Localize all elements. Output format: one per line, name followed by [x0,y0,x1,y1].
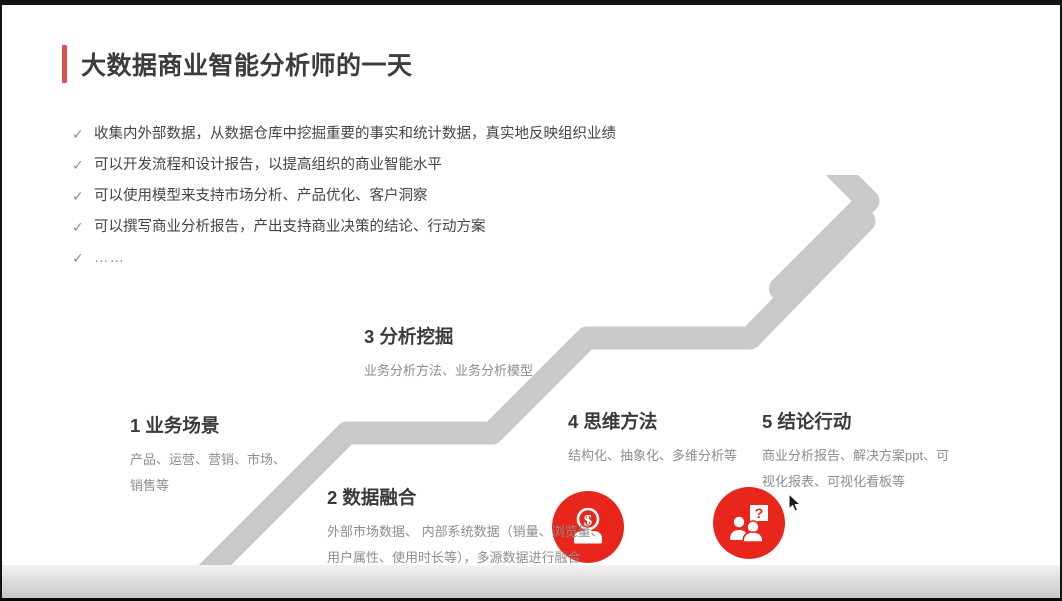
step-1-title: 1 业务场景 [130,412,219,438]
step-5-desc-line2: 视化报表、可视化看板等 [762,469,972,495]
step-5-desc-line1: 商业分析报告、解决方案ppt、可 [762,443,972,469]
step-3-desc-line1: 业务分析方法、业务分析模型 [364,358,594,384]
title-accent-bar [62,45,67,83]
list-item: ✓ 可以开发流程和设计报告，以提高组织的商业智能水平 [72,154,852,177]
staircase-diagram: S ? [2,175,1060,565]
list-item: ✓ 收集内外部数据，从数据仓库中挖掘重要的事实和统计数据，真实地反映组织业绩 [72,123,852,146]
title-label: 大数据商业智能分析师的一天 [81,46,413,82]
page-title: 大数据商业智能分析师的一天 [62,45,413,83]
list-item-label: 可以开发流程和设计报告，以提高组织的商业智能水平 [94,154,442,177]
step-5-title: 5 结论行动 [762,408,851,434]
step-3-desc: 业务分析方法、业务分析模型 [364,358,594,384]
step-1-desc-line2: 销售等 [130,473,315,499]
step-2-desc: 外部市场数据、 内部系统数据（销量、浏览量、 用户属性、使用时长等），多源数据进… [327,519,657,565]
step-1-desc: 产品、运营、营销、市场、 销售等 [130,447,315,499]
video-frame: 大数据商业智能分析师的一天 ✓ 收集内外部数据，从数据仓库中挖掘重要的事实和统计… [0,0,1062,601]
mouse-cursor [788,493,802,513]
step-5-node[interactable]: ? [713,487,785,559]
step-3-title: 3 分析挖掘 [364,323,453,349]
step-4-title: 4 思维方法 [568,408,657,434]
svg-text:?: ? [755,505,764,521]
step-2-title: 2 数据融合 [327,484,416,510]
step-1-desc-line1: 产品、运营、营销、市场、 [130,447,315,473]
check-icon: ✓ [72,154,94,177]
people-question-icon: ? [726,500,772,546]
step-2-desc-line2: 用户属性、使用时长等），多源数据进行融合 [327,545,657,565]
slide-canvas: 大数据商业智能分析师的一天 ✓ 收集内外部数据，从数据仓库中挖掘重要的事实和统计… [2,5,1060,565]
list-item-label: 收集内外部数据，从数据仓库中挖掘重要的事实和统计数据，真实地反映组织业绩 [94,123,616,146]
check-icon: ✓ [72,123,94,146]
player-bottom-bar [2,565,1060,598]
arrow-head-icon [736,175,868,289]
step-2-desc-line1: 外部市场数据、 内部系统数据（销量、浏览量、 [327,519,657,545]
step-5-desc: 商业分析报告、解决方案ppt、可 视化报表、可视化看板等 [762,443,972,495]
